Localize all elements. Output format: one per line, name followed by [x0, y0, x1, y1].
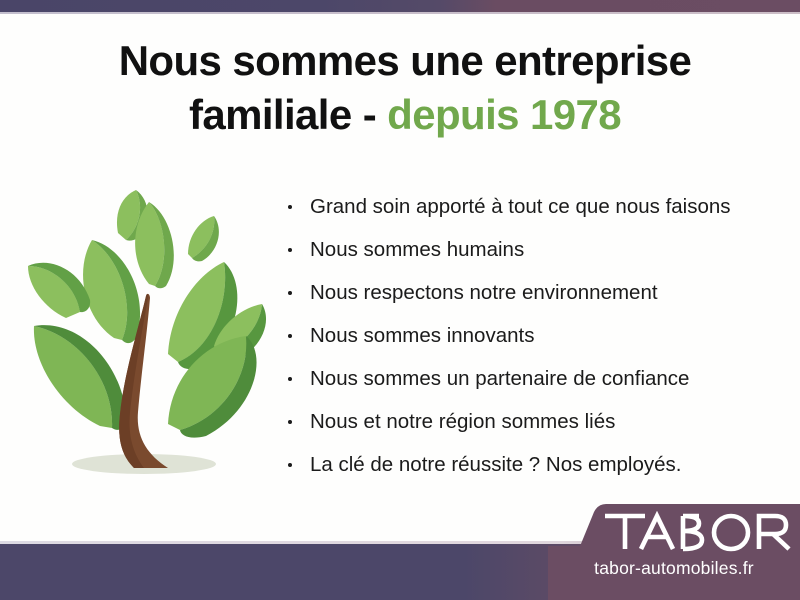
list-item: Nous sommes humains	[284, 235, 784, 278]
leaf-far-left	[28, 263, 90, 318]
list-item-label: La clé de notre réussite ? Nos employés.	[310, 453, 681, 476]
logo-tagline[interactable]: tabor-automobiles.fr	[548, 558, 800, 579]
list-item: Grand soin apporté à tout ce que nous fa…	[284, 192, 784, 235]
page-title-line1: Nous sommes une entreprise	[119, 37, 692, 84]
leaf-bottom-left	[34, 325, 126, 430]
bullet-dot-icon	[288, 463, 292, 467]
list-item-label: Nous sommes humains	[310, 238, 524, 261]
bullet-dot-icon	[288, 291, 292, 295]
slide-canvas: Nous sommes une entreprise familiale - d…	[0, 0, 800, 600]
list-item: Nous sommes un partenaire de confiance	[284, 364, 784, 407]
list-item-label: Nous sommes un partenaire de confiance	[310, 367, 689, 390]
bullet-dot-icon	[288, 377, 292, 381]
top-accent-bar-edge	[0, 12, 800, 14]
list-item: Nous sommes innovants	[284, 321, 784, 364]
page-title: Nous sommes une entreprise familiale - d…	[60, 34, 750, 142]
tabor-logo[interactable]	[603, 511, 793, 553]
bullet-dot-icon	[288, 420, 292, 424]
list-item-label: Nous respectons notre environnement	[310, 281, 658, 304]
bullet-dot-icon	[288, 334, 292, 338]
list-item-label: Grand soin apporté à tout ce que nous fa…	[310, 195, 731, 218]
tree-illustration	[18, 178, 274, 494]
leaf-top-right-small	[188, 216, 219, 261]
list-item-label: Nous sommes innovants	[310, 324, 534, 347]
page-title-line2: familiale -	[189, 91, 387, 138]
bullet-dot-icon	[288, 205, 292, 209]
list-item: Nous et notre région sommes liés	[284, 407, 784, 450]
list-item: Nous respectons notre environnement	[284, 278, 784, 321]
bullet-dot-icon	[288, 248, 292, 252]
value-list: Grand soin apporté à tout ce que nous fa…	[284, 192, 784, 493]
leaf-upper-left	[83, 240, 140, 343]
list-item: La clé de notre réussite ? Nos employés.	[284, 450, 784, 493]
page-title-accent: depuis 1978	[387, 91, 621, 138]
list-item-label: Nous et notre région sommes liés	[310, 410, 615, 433]
top-accent-bar	[0, 0, 800, 12]
